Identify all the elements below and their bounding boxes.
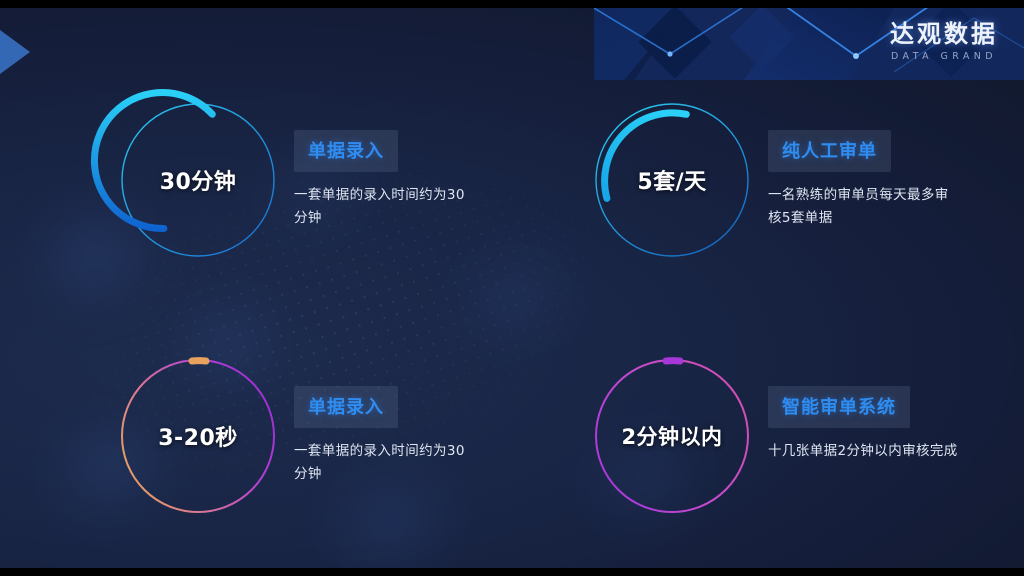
ring-value-label: 2分钟以内 [592, 356, 752, 516]
corner-arrow-icon [0, 30, 30, 74]
card-description: 一套单据的录入时间约为30分钟 [294, 440, 476, 486]
card-chip-label: 单据录入 [294, 386, 398, 428]
card-description: 一名熟练的审单员每天最多审核5套单据 [768, 184, 958, 230]
card-text-block: 纯人工审单 一名熟练的审单员每天最多审核5套单据 [768, 130, 958, 230]
ring-value-label: 5套/天 [592, 100, 752, 260]
slide-canvas: 达观数据 DATA GRAND [0, 0, 1024, 576]
ring-value-label: 30分钟 [118, 100, 278, 260]
card-chip-label: 单据录入 [294, 130, 398, 172]
card-text-block: 单据录入 一套单据的录入时间约为30分钟 [294, 130, 476, 230]
slide-background: 达观数据 DATA GRAND [0, 8, 1024, 568]
ring-value-label: 3-20秒 [118, 356, 278, 516]
card-chip-label: 纯人工审单 [768, 130, 891, 172]
card-description: 一套单据的录入时间约为30分钟 [294, 184, 476, 230]
card-text-block: 智能审单系统 十几张单据2分钟以内审核完成 [768, 386, 958, 463]
card-description: 十几张单据2分钟以内审核完成 [768, 440, 958, 463]
card-text-block: 单据录入 一套单据的录入时间约为30分钟 [294, 386, 476, 486]
brand-logo-cn: 达观数据 [890, 22, 998, 46]
brand-logo-en: DATA GRAND [890, 52, 998, 62]
card-chip-label: 智能审单系统 [768, 386, 910, 428]
brand-logo: 达观数据 DATA GRAND [890, 22, 998, 62]
